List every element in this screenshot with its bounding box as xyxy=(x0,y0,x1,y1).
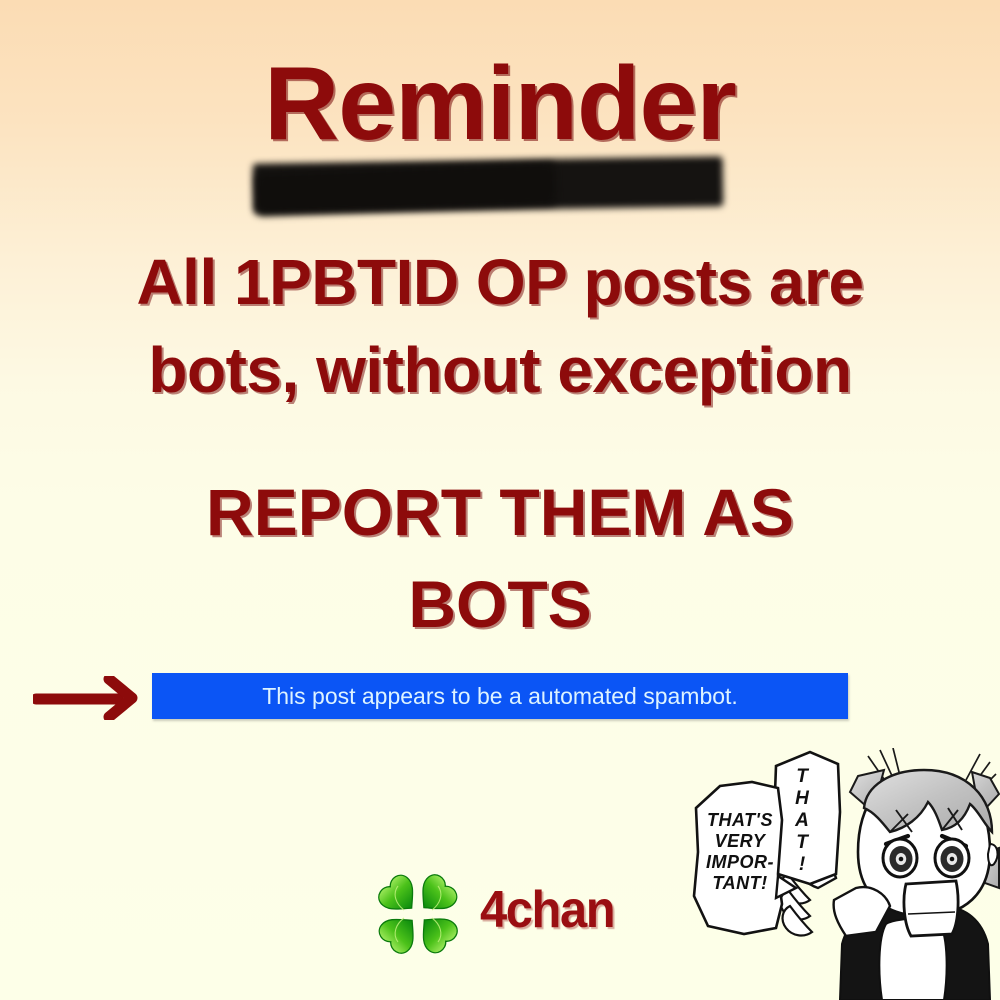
4chan-logo: 4chan xyxy=(368,862,628,966)
report-line-1: REPORT THEM AS xyxy=(0,466,1000,558)
spambot-banner: This post appears to be a automated spam… xyxy=(152,673,848,719)
four-leaf-clover-icon xyxy=(368,864,468,969)
headline-line-1: All 1PBTID OP posts are xyxy=(0,238,1000,326)
yotsuba-manga-girl: THAT'S VERY IMPOR- TANT! T H A T ! xyxy=(690,748,1000,1000)
4chan-wordmark: 4chan xyxy=(480,884,614,936)
image-macro-canvas: Reminder All 1PBTID OP posts are bots, w… xyxy=(0,0,1000,1000)
spambot-banner-text: This post appears to be a automated spam… xyxy=(262,683,738,710)
headline-line-2: bots, without exception xyxy=(0,326,1000,414)
report-block: REPORT THEM AS BOTS xyxy=(0,466,1000,650)
report-line-2: BOTS xyxy=(0,558,1000,650)
page-title: Reminder xyxy=(0,52,1000,156)
headline-block: All 1PBTID OP posts are bots, without ex… xyxy=(0,238,1000,414)
right-arrow-icon xyxy=(33,676,141,720)
